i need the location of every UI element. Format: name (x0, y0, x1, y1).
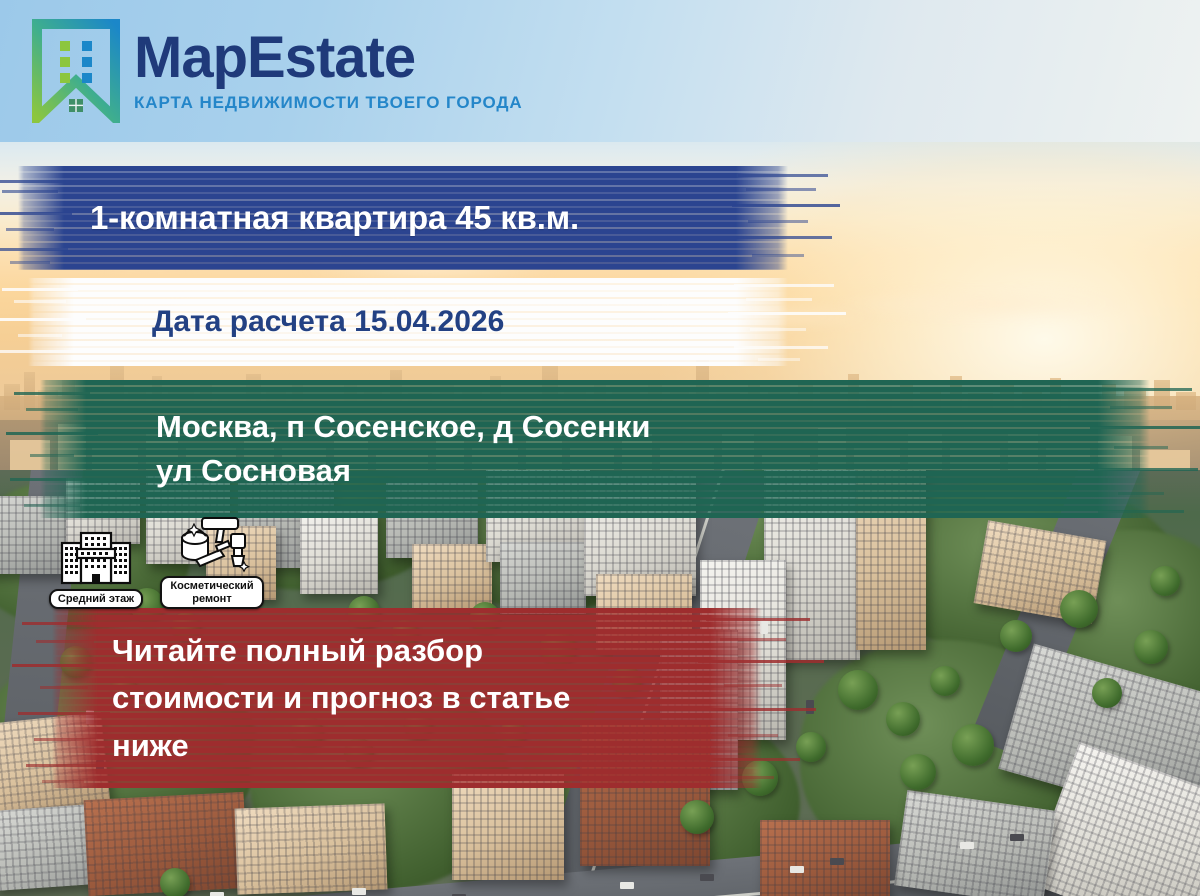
apartment-building-icon (59, 529, 133, 587)
cta-line-2: стоимости и прогноз в статье (112, 674, 762, 721)
brand-name: MapEstate (134, 29, 523, 87)
bookmark-building-icon (32, 19, 120, 123)
brand-tagline: КАРТА НЕДВИЖИМОСТИ ТВОЕГО ГОРОДА (134, 93, 523, 113)
paint-roller-brush-icon (172, 516, 252, 574)
address-banner: Москва, п Сосенское, д Сосенки ул Соснов… (40, 380, 1150, 518)
badge-floor[interactable]: Средний этаж (44, 529, 148, 610)
badge-renovation-label: Косметический ремонт (160, 576, 264, 609)
calculation-date-banner: Дата расчета 15.04.2026 (28, 278, 788, 366)
cta-banner[interactable]: Читайте полный разбор стоимости и прогно… (52, 608, 762, 788)
property-title-text: 1-комнатная квартира 45 кв.м. (18, 199, 788, 237)
cta-line-1: Читайте полный разбор (112, 627, 762, 674)
address-line-2: ул Сосновая (156, 449, 1150, 493)
promo-card: MapEstate КАРТА НЕДВИЖИМОСТИ ТВОЕГО ГОРО… (0, 0, 1200, 896)
badge-renovation[interactable]: Косметический ремонт (160, 516, 264, 609)
feature-badges: Средний этаж (44, 516, 264, 609)
cta-line-3: ниже (112, 722, 762, 769)
address-line-1: Москва, п Сосенское, д Сосенки (156, 405, 1150, 449)
property-title-banner: 1-комнатная квартира 45 кв.м. (18, 166, 788, 270)
badge-floor-label: Средний этаж (49, 589, 143, 610)
header: MapEstate КАРТА НЕДВИЖИМОСТИ ТВОЕГО ГОРО… (0, 0, 1200, 142)
logo[interactable]: MapEstate КАРТА НЕДВИЖИМОСТИ ТВОЕГО ГОРО… (0, 19, 523, 123)
calculation-date-text: Дата расчета 15.04.2026 (28, 305, 788, 339)
